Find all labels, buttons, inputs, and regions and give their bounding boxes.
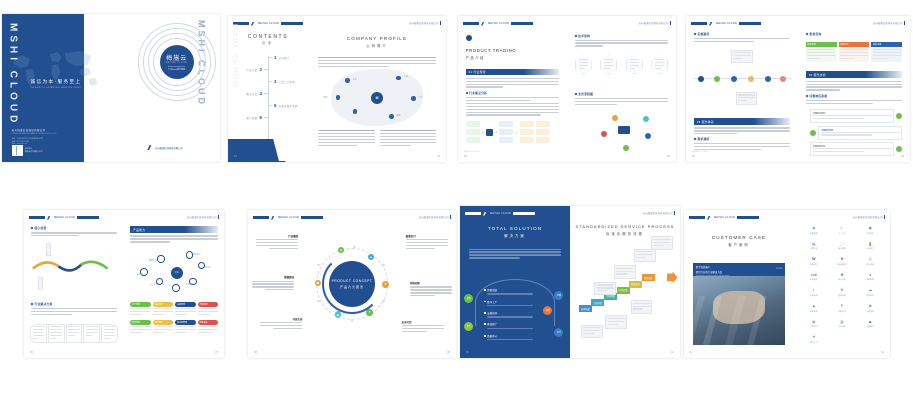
page-number: 05 <box>901 155 904 158</box>
customer-logo-icon: ▤ <box>812 243 815 247</box>
page-number: 03 <box>667 155 670 158</box>
page-service-process: 苏州梅施信息科技有限公司 STANDARDIZED SERVICE PROCES… <box>570 206 680 358</box>
logo-item[interactable]: P中国中铁 <box>828 301 856 317</box>
cap-bar-wrap: 产品能力 <box>130 226 218 244</box>
concept-node-3[interactable]: ★ <box>382 281 389 288</box>
process-step[interactable]: 持续服务 <box>642 274 655 281</box>
adv-pill-row <box>30 324 118 344</box>
pt2-section-2: 业务流程图 <box>575 92 669 107</box>
brand-tagline: 工业SaaS软件服务 <box>168 66 186 71</box>
flow-chip[interactable] <box>499 137 513 143</box>
case-title-en: CUSTOMER CASE <box>684 235 794 240</box>
header-company-text: 苏州梅施信息科技有限公司 <box>187 215 217 219</box>
support-card-row: 售前咨询 实施交付 售后运维 <box>806 42 902 62</box>
solution-item[interactable]: 云端协同 <box>484 311 552 319</box>
customer-logo-icon: ◍ <box>812 321 815 325</box>
tag-card[interactable]: 安全管理 <box>153 320 174 336</box>
logo-item[interactable]: ◐中国石化 <box>800 285 828 301</box>
process-note[interactable] <box>631 300 653 313</box>
contents-title: CONTENTS 目录 <box>228 34 308 45</box>
footer-note: MEISHI CLOUD <box>692 151 708 153</box>
page-number: 08 <box>447 351 450 354</box>
logo-item[interactable]: ☁阿里巴巴 <box>856 285 884 301</box>
logo-item[interactable]: ✿中国建材 <box>856 301 884 317</box>
toc-item-6[interactable]: 客户案例6 <box>228 112 308 124</box>
logo-item[interactable]: ❚上海电气 <box>856 239 884 255</box>
concept-title-cn: 产品六大愿景 <box>340 285 364 289</box>
qa-badge-icon <box>896 113 902 119</box>
page-number: 09 <box>466 351 469 354</box>
header-company-text: 苏州梅施信息科技有限公司 <box>873 21 903 25</box>
timeline-card[interactable] <box>736 92 758 105</box>
contents-title-cn: 目录 <box>228 41 308 45</box>
profile-columns <box>318 130 437 147</box>
solution-title-cn: 解决方案 <box>460 233 570 238</box>
logo-item[interactable]: ◍宁德时代 <box>800 317 828 333</box>
page-number: 04 <box>692 155 695 158</box>
adv-head: 核心优势 <box>31 226 117 238</box>
header-company-text: 苏州梅施信息科技有限公司 <box>639 21 669 25</box>
wave-chart <box>32 259 121 272</box>
map-node[interactable] <box>353 109 358 114</box>
spread-contents-profile[interactable]: MEISHI CLOUD MSHI CLOUD CONTENTS 目录 1公司简… <box>228 16 446 162</box>
tag-card[interactable]: 质量管理 <box>153 302 174 318</box>
process-step[interactable]: 需求沟通 <box>579 305 592 312</box>
page-service-support: 苏州梅施信息科技有限公司 售前咨询 售前咨询 实施交付 售后运维 <box>798 16 910 162</box>
pt2-node-diagram <box>587 112 666 153</box>
customer-logo-icon: ✾ <box>840 274 843 278</box>
page-number: 10 <box>671 351 674 354</box>
logo-mark-icon <box>47 216 52 220</box>
cover-footer-logo: 苏州梅施信息科技有限公司 <box>147 145 183 150</box>
logo-mark-icon <box>709 22 714 26</box>
flow-hub[interactable] <box>486 129 493 136</box>
concept-label-2: 数据驱动 <box>252 275 294 292</box>
concept-node-1[interactable]: ✿ <box>338 247 345 254</box>
customer-logo-grid: ◈中国电信 ☾三一重工 ◉华为技术 ▤中国中车 ⬚海尔智家 ❚上海电气 W潍柴动… <box>800 223 885 347</box>
toc-item-2[interactable]: 产品介绍2 <box>228 64 308 76</box>
pt-title-en: PRODUCT TRADING <box>466 48 517 53</box>
adv-card[interactable] <box>38 277 43 290</box>
header-logo-text: MEISHI CLOUD <box>54 216 75 219</box>
page-total-solution: MEISHI CLOUD TOTAL SOLUTION 解决方案 研发 生产 仓… <box>460 206 570 358</box>
solution-pill[interactable]: 生产 <box>464 322 473 331</box>
brand-badge: 梅施云 MEISHI CLOUD 工业SaaS软件服务 <box>160 45 194 79</box>
solution-pill[interactable]: 仓储 <box>554 291 563 300</box>
adv-head-2: 行业解决方案 <box>31 302 117 317</box>
logo-item[interactable]: ◉华为技术 <box>856 223 884 239</box>
spread-product-trading[interactable]: MEISHI CLOUD PRODUCT TRADING 产品介绍 01 行业现… <box>458 16 676 162</box>
solution-pill[interactable]: 研发 <box>464 294 473 303</box>
diagram-hub[interactable] <box>618 126 630 134</box>
logo-item[interactable]: ✵振华重工 <box>800 332 828 348</box>
customer-logo-icon: CAD <box>811 274 818 277</box>
customer-logo-icon: ◈ <box>812 227 815 231</box>
capability-node-label: IoT中台 <box>150 283 157 286</box>
profile-title-en: COMPANY PROFILE <box>308 36 446 41</box>
support-card[interactable]: 售前咨询 <box>806 42 837 62</box>
customer-logo-icon: ✿ <box>869 305 872 309</box>
customer-logo-icon: ◎ <box>869 258 872 262</box>
customer-logo-icon: ❦ <box>840 289 843 293</box>
header-logo-text: MEISHI CLOUD <box>716 22 737 25</box>
flow-chip[interactable] <box>466 129 480 135</box>
map-node-label: 上海 <box>404 75 408 78</box>
page-header-right: 苏州梅施信息科技有限公司 <box>187 215 219 219</box>
spread-solution-process[interactable]: MEISHI CLOUD TOTAL SOLUTION 解决方案 研发 生产 仓… <box>460 206 680 358</box>
spread-product-concept[interactable]: MEISHI CLOUD 苏州梅施信息科技有限公司 PRODUCT CONCEP… <box>248 210 456 358</box>
process-note[interactable] <box>581 325 603 338</box>
process-step[interactable]: 验收交付 <box>629 281 642 288</box>
timeline-dot[interactable] <box>698 76 704 82</box>
adv-pill[interactable] <box>83 324 100 344</box>
hex-card-row <box>575 55 669 74</box>
flow-chip[interactable] <box>520 129 534 135</box>
diagram-node[interactable] <box>623 145 629 151</box>
diagram-node[interactable] <box>612 115 618 121</box>
spread-cover[interactable]: MSHI CLOUD 诚信为本·服务至上 INTEGRITY ORIENTED … <box>2 14 220 162</box>
timeline-top-cards <box>693 50 792 68</box>
customer-logo-icon: ♠ <box>869 274 871 278</box>
page-header-right: 苏州梅施信息科技有限公司 <box>873 21 905 25</box>
solution-item[interactable]: 数据中心 <box>484 334 552 342</box>
header-company-text: 苏州梅施信息科技有限公司 <box>853 215 883 219</box>
header-logo-text: MEISHI CLOUD <box>490 212 511 215</box>
spread-customer-case[interactable]: MEISHI CLOUD CUSTOMER CASE 客户案例 携手优质客户 提… <box>684 210 890 358</box>
qa-row[interactable]: 问题响应机制 <box>810 109 902 123</box>
toc-item-5[interactable]: 5标准化服务流程 <box>228 100 308 112</box>
capability-hub[interactable]: 中台 <box>171 267 183 279</box>
case-caption: 携手优质客户 提供专业的行业解决方案 Work hand in hand to … <box>693 263 785 276</box>
logo-item[interactable]: ▤中国中车 <box>800 239 828 255</box>
adv-pill[interactable] <box>101 324 118 344</box>
cover-footer-company: 苏州梅施信息科技有限公司 <box>155 146 183 150</box>
subsection-title: 需求调研 <box>697 137 709 141</box>
qr-code-icon <box>12 145 23 156</box>
page-capability: 苏州梅施信息科技有限公司 产品能力 中台 数据中台 业务中台 技术中台 AI中台… <box>124 210 224 358</box>
pt-title-cn: 产品介绍 <box>466 55 517 60</box>
map-node-label: 成都 <box>396 114 400 117</box>
solution-title: TOTAL SOLUTION 解决方案 <box>460 226 570 238</box>
world-map-graphic <box>6 35 105 103</box>
concept-label-1: 行业覆盖 <box>256 234 298 251</box>
diagram-node[interactable] <box>643 116 649 122</box>
header-company-text: 苏州梅施信息科技有限公司 <box>419 215 449 219</box>
hex-card[interactable] <box>600 55 617 74</box>
page-header: MEISHI CLOUD <box>29 215 119 220</box>
timeline-dot[interactable] <box>748 76 754 82</box>
adv-card[interactable] <box>46 243 51 256</box>
cover-company-info: 苏州梅施信息科技有限公司 SUZHOU MEISHI INFORMATION T… <box>12 128 57 146</box>
case-caption-en: Work hand in hand to create a win-win fu… <box>696 275 782 277</box>
logo-item[interactable]: ▲金风科技 <box>800 301 828 317</box>
page-number: 06 <box>30 351 33 354</box>
customer-logo-icon: ◉ <box>869 227 872 231</box>
tag-card[interactable]: 供应链管理 <box>175 320 196 336</box>
tag-card[interactable]: 设备管理 <box>175 302 196 318</box>
flow-chip[interactable] <box>520 137 534 143</box>
concept-wheel: PRODUCT CONCEPT 产品六大愿景 ✿ ◈ ★ ✦ ◉ ⬢ <box>316 248 388 320</box>
concept-label-4: 敏捷交付 <box>406 234 448 251</box>
header-logo-text: MEISHI CLOUD <box>258 22 279 25</box>
timeline-section-head: 实施路径 <box>694 32 790 44</box>
logo-mark-icon <box>483 212 488 216</box>
profile-col-right <box>380 130 437 147</box>
pt-body: 01 行业现状 行业痛点分析 <box>466 69 560 118</box>
hex-card[interactable] <box>575 55 592 74</box>
flow-chip[interactable] <box>536 129 550 135</box>
flow-chip[interactable] <box>466 121 480 127</box>
tag-card[interactable]: 数据看板 <box>198 320 219 336</box>
logo-item[interactable]: CAD中望软件 <box>800 270 828 286</box>
cover-company-cn: 苏州梅施信息科技有限公司 <box>12 128 57 132</box>
qa-list: 问题响应机制 专属顾问服务 定期巡检回访 <box>810 109 902 156</box>
page-header: MEISHI CLOUD <box>465 211 565 216</box>
page-cover-back: MSHI CLOUD 梅施云 MEISHI CLOUD 工业SaaS软件服务 苏… <box>110 14 220 162</box>
map-node[interactable] <box>411 96 416 101</box>
contents-title-en: CONTENTS <box>228 34 308 40</box>
process-note[interactable] <box>651 236 673 249</box>
concept-label-3: 开放生态 <box>260 317 302 331</box>
qa-row[interactable]: 专属顾问服务 <box>810 126 902 140</box>
customer-logo-icon: ✹ <box>840 258 843 262</box>
diagram-node[interactable] <box>645 133 651 139</box>
tag-card[interactable]: 生产管理 <box>130 302 151 318</box>
qa-row[interactable]: 定期巡检回访 <box>810 142 902 156</box>
concept-label-5: 持续创新 <box>410 281 452 298</box>
contents-wedge <box>228 139 279 162</box>
case-caption-title: 携手优质客户 <box>696 265 782 269</box>
section-bar: 03 服务体系 <box>694 118 790 125</box>
solution-item[interactable]: 智能制造 <box>484 288 552 296</box>
logo-mark-icon <box>147 145 153 150</box>
page-timeline: MEISHI CLOUD 实施路径 <box>686 16 798 162</box>
concept-core: PRODUCT CONCEPT 产品六大愿景 <box>329 261 375 307</box>
support-head: 售前咨询 <box>806 32 902 38</box>
map-node-label: 广州 <box>418 96 422 99</box>
logo-item[interactable]: ❦国家电网 <box>828 285 856 301</box>
capability-node[interactable] <box>172 284 180 292</box>
process-note[interactable] <box>594 282 616 295</box>
process-step[interactable]: 项目实施 <box>617 287 630 294</box>
section-icon <box>466 35 472 41</box>
customer-logo-icon: ◐ <box>813 289 815 293</box>
tag-card[interactable]: 能源管理 <box>130 320 151 336</box>
logo-mark-icon <box>481 22 486 26</box>
spread-implementation[interactable]: MEISHI CLOUD 实施路径 <box>686 16 910 162</box>
logo-item[interactable]: ✾格力电器 <box>828 270 856 286</box>
profile-title-cn: 公司简介 <box>308 43 446 48</box>
header-company-text: 苏州梅施信息科技有限公司 <box>643 211 673 215</box>
toc-item-4[interactable]: 解决方案4 <box>228 88 308 100</box>
process-step[interactable]: 方案评估 <box>591 299 604 306</box>
tag-card[interactable]: 仓储管理 <box>198 302 219 318</box>
profile-title: COMPANY PROFILE 公司简介 <box>308 36 446 48</box>
cover-qr-text: 扫码关注梅施云官方微信公众号 <box>25 148 43 153</box>
support-body: 04 服务支持 问题响应机制 <box>806 71 902 105</box>
subsection-title: 实施路径 <box>697 32 709 36</box>
customer-logo-icon: P <box>841 305 843 309</box>
subsection-title: 售前咨询 <box>809 32 821 36</box>
page-product-trading: MEISHI CLOUD PRODUCT TRADING 产品介绍 01 行业现… <box>458 16 567 162</box>
process-note[interactable] <box>634 249 656 262</box>
header-logo-text: MEISHI CLOUD <box>278 216 299 219</box>
spread-advantage-capability[interactable]: MEISHI CLOUD 核心优势 行业解决方案 <box>24 210 224 358</box>
logo-item[interactable]: ▥京东方A <box>828 317 856 333</box>
page-cover-front: MSHI CLOUD 诚信为本·服务至上 INTEGRITY ORIENTED … <box>2 14 110 162</box>
capability-node-label: 安全中台 <box>186 283 194 286</box>
flow-chip[interactable] <box>499 129 513 135</box>
brand-name-en: MEISHI CLOUD <box>166 62 188 64</box>
logo-item[interactable]: ✹比亚迪股份 <box>828 254 856 270</box>
concept-title-en: PRODUCT CONCEPT <box>332 279 373 283</box>
case-title-cn: 客户案例 <box>684 242 794 247</box>
table-of-contents: CONTENTS 目录 1公司简介 产品介绍2 3产品六大愿景 解决方案4 5标… <box>228 34 308 124</box>
flow-chip[interactable] <box>536 137 550 143</box>
qa-badge-icon <box>810 130 816 136</box>
process-arrowhead-icon <box>667 271 678 283</box>
china-map-network: M 北京 上海 广州 成都 西安 <box>316 66 437 130</box>
customer-logo-icon: ☾ <box>840 227 843 231</box>
page-customer-case: MEISHI CLOUD CUSTOMER CASE 客户案例 携手优质客户 提… <box>684 210 794 358</box>
concept-node-4[interactable]: ✦ <box>366 309 373 316</box>
solution-pill[interactable]: 交付 <box>554 328 563 337</box>
logo-item[interactable]: ☾三一重工 <box>828 223 856 239</box>
support-card[interactable]: 售后运维 <box>871 42 902 62</box>
process-note[interactable] <box>605 315 627 328</box>
flow-chip[interactable] <box>520 121 534 127</box>
cover-qr-block: 扫码关注梅施云官方微信公众号 <box>12 145 43 156</box>
adv-pill[interactable] <box>66 324 83 344</box>
pt-title: PRODUCT TRADING 产品介绍 <box>466 48 517 60</box>
page-header-right: 苏州梅施信息科技有限公司 <box>643 211 675 215</box>
flow-chip[interactable] <box>499 121 513 127</box>
process-title-en: STANDARDIZED SERVICE PROCESS <box>570 224 680 229</box>
header-logo-text: MEISHI CLOUD <box>714 216 735 219</box>
logo-mark-icon <box>251 22 256 26</box>
page-number: 11 <box>690 351 693 354</box>
logo-item[interactable]: ◎徐工机械 <box>856 254 884 270</box>
concept-label-6: 安全可控 <box>402 320 444 334</box>
subsection-title: 行业解决方案 <box>35 302 53 306</box>
header-logo-text: MEISHI CLOUD <box>488 22 509 25</box>
timeline-dot[interactable] <box>731 76 737 82</box>
page-product-trading-2: 苏州梅施信息科技有限公司 技术架构 业务流程图 <box>567 16 676 162</box>
page-header: MEISHI CLOUD <box>463 21 562 26</box>
page-customer-logos: 苏州梅施信息科技有限公司 ◈中国电信 ☾三一重工 ◉华为技术 ▤中国中车 ⬚海尔… <box>794 210 890 358</box>
brand-name-cn: 梅施云 <box>166 53 187 62</box>
slide-gallery: MSHI CLOUD 诚信为本·服务至上 INTEGRITY ORIENTED … <box>0 0 913 400</box>
customer-logo-icon: ❚ <box>869 243 872 247</box>
case-photo: 携手优质客户 提供专业的行业解决方案 Work hand in hand to … <box>693 263 785 344</box>
page-company-profile: 苏州梅施信息科技有限公司 COMPANY PROFILE 公司简介 M 北京 上… <box>308 16 446 162</box>
subsection-title: 问题响应机制 <box>809 94 827 98</box>
page-product-concept: MEISHI CLOUD 苏州梅施信息科技有限公司 PRODUCT CONCEP… <box>248 210 456 358</box>
page-header-right: 苏州梅施信息科技有限公司 <box>409 21 441 25</box>
case-title: CUSTOMER CASE 客户案例 <box>684 235 794 247</box>
hex-card[interactable] <box>651 55 668 74</box>
toc-item-1[interactable]: 1公司简介 <box>228 52 308 64</box>
section-bar: 产品能力 <box>130 226 218 233</box>
timeline-dot[interactable] <box>780 76 786 82</box>
process-note[interactable] <box>614 265 636 278</box>
capability-node[interactable] <box>157 255 165 263</box>
map-node[interactable] <box>336 95 341 100</box>
hex-card[interactable] <box>626 55 643 74</box>
map-node-label: 北京 <box>353 78 357 81</box>
timeline-card[interactable] <box>731 50 753 63</box>
cover-slogan: 诚信为本·服务至上 INTEGRITY ORIENTED SERVICE FIR… <box>2 79 110 89</box>
page-contents: MEISHI CLOUD MSHI CLOUD CONTENTS 目录 1公司简… <box>228 16 308 162</box>
customer-logo-icon: ▥ <box>840 321 843 325</box>
capability-node-label: AI中台 <box>137 273 143 276</box>
subsection-title: 行业痛点分析 <box>469 91 487 95</box>
capability-node-label: 业务中台 <box>192 253 200 256</box>
logo-item[interactable]: ⛰中国铝业 <box>856 317 884 333</box>
page-header: MEISHI CLOUD <box>691 21 793 26</box>
map-hub-node: M <box>371 92 383 104</box>
logo-item[interactable]: ◈中国电信 <box>800 223 828 239</box>
logo-item[interactable]: ⬚海尔智家 <box>828 239 856 255</box>
logo-item-empty <box>828 332 856 348</box>
adv-pill[interactable] <box>48 324 65 344</box>
page-number: 12 <box>881 351 884 354</box>
logo-mark-icon <box>271 216 276 220</box>
footer-note: MEISHI CLOUD <box>464 151 480 153</box>
cover-slogan-cn: 诚信为本·服务至上 <box>2 79 110 85</box>
diagram-node[interactable] <box>601 131 607 137</box>
solution-items: 智能制造 数字工厂 云端协同 移动推广 数据中心 <box>484 288 552 345</box>
page-number: 02 <box>464 155 467 158</box>
timeline-bottom-cards <box>702 92 792 110</box>
capability-network: 中台 数据中台 业务中台 技术中台 AI中台 IoT中台 安全中台 <box>132 248 216 295</box>
header-company-text: 苏州梅施信息科技有限公司 <box>409 21 439 25</box>
flow-chip[interactable] <box>536 121 550 127</box>
page-header-right: 苏州梅施信息科技有限公司 <box>639 21 671 25</box>
concept-node-5[interactable]: ◉ <box>335 311 342 318</box>
logo-item[interactable]: W潍柴动力 <box>800 254 828 270</box>
flow-chip[interactable] <box>466 137 480 143</box>
adv-pill[interactable] <box>30 324 47 344</box>
page-header: MEISHI CLOUD <box>689 215 789 220</box>
cover-watermark: MSHI CLOUD <box>7 23 18 126</box>
page-header: MEISHI CLOUD <box>233 21 303 26</box>
page-number: 08 <box>254 351 257 354</box>
handshake-photo-subject <box>713 291 765 324</box>
capability-tag-grid: 生产管理 质量管理 设备管理 仓储管理 能源管理 安全管理 供应链管理 数据看板 <box>130 302 218 336</box>
page-number: 01 <box>234 155 237 158</box>
case-badge: CASE <box>776 267 783 270</box>
solution-item[interactable]: 数字工厂 <box>484 300 552 308</box>
solution-item[interactable]: 移动推广 <box>484 322 552 330</box>
timeline-dot[interactable] <box>714 76 720 82</box>
subsection-title: 业务流程图 <box>578 92 593 96</box>
timeline-dot[interactable] <box>765 76 771 82</box>
page-number: 07 <box>215 351 218 354</box>
qa-badge-icon <box>896 146 902 152</box>
customer-logo-icon: W <box>812 258 815 262</box>
capability-node-label: 数据中台 <box>149 259 157 262</box>
toc-item-3[interactable]: 3产品六大愿景 <box>228 76 308 88</box>
page-header-right: 苏州梅施信息科技有限公司 <box>419 215 451 219</box>
map-node[interactable] <box>389 114 394 119</box>
logo-item[interactable]: ♠美的集团 <box>856 270 884 286</box>
profile-col-left <box>318 130 375 147</box>
pt-flow-diagram: + + = <box>466 121 560 143</box>
customer-logo-icon: ☁ <box>868 289 872 293</box>
solution-intro <box>469 249 561 261</box>
support-card[interactable]: 实施交付 <box>839 42 870 62</box>
